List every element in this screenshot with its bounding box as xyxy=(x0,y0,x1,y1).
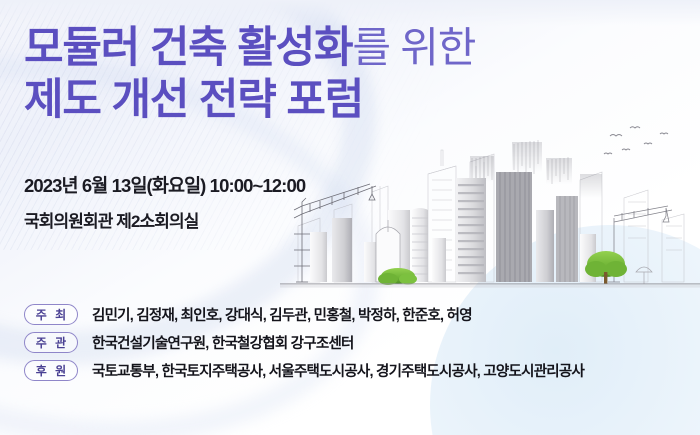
title-line-1-bold: 모듈러 건축 활성화 xyxy=(24,24,352,72)
background-top-fade xyxy=(0,0,700,26)
title-line-1-light: 를 위한 xyxy=(352,24,475,71)
event-datetime: 2023년 6월 13일(화요일) 10:00~12:00 xyxy=(24,172,305,198)
credit-row-organizer: 주 관 한국건설기술연구원, 한국철강협회 강구조센터 xyxy=(24,328,584,356)
badge-host: 주 최 xyxy=(24,304,78,325)
event-details: 2023년 6월 13일(화요일) 10:00~12:00 국회의원회관 제2소… xyxy=(24,172,305,232)
poster-title: 모듈러 건축 활성화를 위한 제도 개선 전략 포럼 xyxy=(24,26,475,123)
credit-row-sponsor: 후 원 국토교통부, 한국토지주택공사, 서울주택도시공사, 경기주택도시공사,… xyxy=(24,356,584,384)
credits-list: 주 최 김민기, 김정재, 최인호, 강대식, 김두관, 민홍철, 박정하, 한… xyxy=(24,300,584,384)
title-line-2: 제도 개선 전략 포럼 xyxy=(24,78,475,122)
badge-sponsor: 후 원 xyxy=(24,360,78,381)
credit-row-host: 주 최 김민기, 김정재, 최인호, 강대식, 김두관, 민홍철, 박정하, 한… xyxy=(24,300,584,328)
event-venue: 국회의원회관 제2소회의실 xyxy=(24,207,305,232)
badge-organizer: 주 관 xyxy=(24,332,78,353)
credit-text-sponsor: 국토교통부, 한국토지주택공사, 서울주택도시공사, 경기주택도시공사, 고양도… xyxy=(92,360,584,381)
event-poster: 모듈러 건축 활성화를 위한 제도 개선 전략 포럼 2023년 6월 13일(… xyxy=(0,0,700,435)
credit-text-host: 김민기, 김정재, 최인호, 강대식, 김두관, 민홍철, 박정하, 한준호, … xyxy=(92,304,472,325)
title-line-2-bold: 제도 개선 전략 포럼 xyxy=(24,76,363,124)
title-line-1: 모듈러 건축 활성화를 위한 xyxy=(24,26,475,70)
credit-text-organizer: 한국건설기술연구원, 한국철강협회 강구조센터 xyxy=(92,332,354,353)
